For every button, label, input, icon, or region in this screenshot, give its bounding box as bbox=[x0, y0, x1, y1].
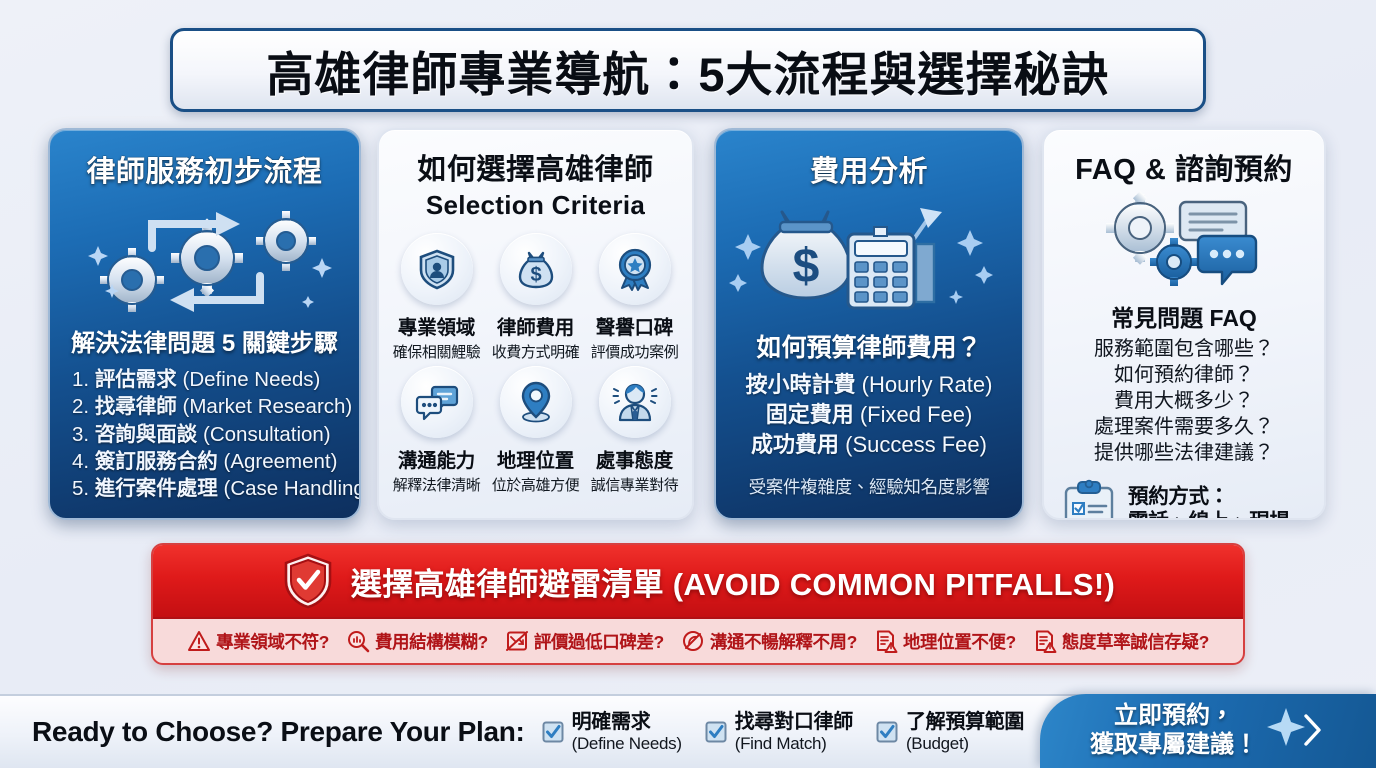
list-item: 處理案件需要多久？ bbox=[1044, 414, 1324, 440]
pitfalls-items-row: 專業領域不符? 費用結構模糊? bbox=[153, 619, 1243, 663]
footer-title: Ready to Choose? Prepare Your Plan: bbox=[32, 716, 525, 748]
card4-title: FAQ & 諮詢預約 bbox=[1044, 146, 1324, 188]
document-alert-icon bbox=[874, 629, 898, 653]
card1-title: 律師服務初步流程 bbox=[50, 148, 359, 190]
pitfall-text: 專業領域不符? bbox=[216, 629, 329, 654]
pitfall-text: 地理位置不便? bbox=[903, 629, 1016, 654]
award-ribbon-icon bbox=[599, 233, 671, 305]
card1-steps-list: 1. 評估需求 (Define Needs) 2. 找尋律師 (Market R… bbox=[72, 366, 359, 502]
cta-line1: 立即預約， bbox=[1090, 702, 1258, 731]
pitfall-item[interactable]: 專業領域不符? bbox=[187, 629, 329, 654]
card2-title: 如何選擇高雄律師 bbox=[379, 146, 692, 188]
criterion-desc: 解釋法律清晰 bbox=[387, 474, 486, 495]
pitfall-text: 評價過低口碑差? bbox=[534, 629, 664, 654]
list-item: 如何預約律師？ bbox=[1044, 362, 1324, 388]
card-selection-criteria[interactable]: 如何選擇高雄律師 Selection Criteria 專業領域 確保相關鯉驗 bbox=[377, 128, 694, 520]
criterion-attitude[interactable]: 處事態度 誠信專業對待 bbox=[585, 366, 684, 495]
clipboard-checklist-icon bbox=[1058, 478, 1120, 520]
card-faq-booking[interactable]: FAQ & 諮詢預約 bbox=[1042, 128, 1326, 520]
list-item: 3. 咨詢與面談 (Consultation) bbox=[72, 421, 359, 448]
criterion-reputation[interactable]: 聲譽口碑 評價成功案例 bbox=[585, 233, 684, 362]
money-bag-calculator-chart-icon: $ bbox=[716, 194, 1022, 322]
footer-check-item[interactable]: 找尋對口律師 (Find Match) bbox=[704, 711, 853, 752]
pitfall-item[interactable]: 費用結構模糊? bbox=[346, 629, 488, 654]
booking-value: 電話、線上、現場 bbox=[1128, 509, 1290, 520]
list-item: 成功費用 (Success Fee) bbox=[716, 430, 1022, 460]
list-item: 1. 評估需求 (Define Needs) bbox=[72, 366, 359, 393]
booking-method[interactable]: 預約方式： 電話、線上、現場 bbox=[1058, 478, 1324, 520]
criteria-grid: 專業領域 確保相關鯉驗 $ 律師費用 收費方式明確 bbox=[379, 233, 692, 495]
footer-check-item[interactable]: 了解預算範圍 (Budget) bbox=[875, 711, 1024, 752]
pitfall-text: 費用結構模糊? bbox=[375, 629, 488, 654]
svg-text:$: $ bbox=[793, 240, 820, 293]
magnifier-chart-icon bbox=[346, 629, 370, 653]
pitfalls-section: 選擇高雄律師避雷清單 (AVOID COMMON PITFALLS!) 專業領域… bbox=[151, 543, 1245, 665]
criterion-desc: 收費方式明確 bbox=[486, 341, 585, 362]
check-label-zh: 了解預算範圍 bbox=[906, 711, 1024, 733]
criterion-label: 專業領域 bbox=[387, 311, 486, 340]
business-person-icon bbox=[599, 366, 671, 438]
booking-label: 預約方式： bbox=[1128, 484, 1290, 509]
pitfall-text: 溝通不暢解釋不周? bbox=[710, 629, 857, 654]
card1-heading: 解決法律問題 5 關鍵步驟 bbox=[50, 323, 359, 358]
chat-bubbles-icon bbox=[401, 366, 473, 438]
cta-line2: 獲取專屬建議！ bbox=[1090, 731, 1258, 760]
checkbox-checked-icon[interactable] bbox=[704, 720, 728, 744]
card-service-process[interactable]: 律師服務初步流程 bbox=[48, 128, 361, 520]
money-bag-icon: $ bbox=[500, 233, 572, 305]
pitfall-item[interactable]: 態度草率誠信存疑? bbox=[1033, 629, 1209, 654]
shield-person-icon bbox=[401, 233, 473, 305]
criterion-communication[interactable]: 溝通能力 解釋法律清晰 bbox=[387, 366, 486, 495]
criterion-desc: 誠信專業對待 bbox=[585, 474, 684, 495]
list-item: 4. 簽訂服務合約 (Agreement) bbox=[72, 448, 359, 475]
checkbox-checked-icon[interactable] bbox=[875, 720, 899, 744]
criterion-expertise[interactable]: 專業領域 確保相關鯉驗 bbox=[387, 233, 486, 362]
list-item: 服務範圍包含哪些？ bbox=[1044, 336, 1324, 362]
card3-title: 費用分析 bbox=[716, 148, 1022, 190]
card3-fee-list: 按小時計費 (Hourly Rate) 固定費用 (Fixed Fee) 成功費… bbox=[716, 370, 1022, 460]
criterion-label: 律師費用 bbox=[486, 311, 585, 340]
list-item: 費用大概多少？ bbox=[1044, 388, 1324, 414]
pitfall-item[interactable]: 評價過低口碑差? bbox=[505, 629, 664, 654]
cta-book-now-button[interactable]: 立即預約， 獲取專屬建議！ bbox=[1040, 694, 1376, 768]
chart-down-icon bbox=[505, 629, 529, 653]
criterion-label: 溝通能力 bbox=[387, 444, 486, 473]
card-fee-analysis[interactable]: 費用分析 $ bbox=[714, 128, 1024, 520]
card3-question: 如何預算律師費用？ bbox=[716, 328, 1022, 364]
page-title: 高雄律師專業導航：5大流程與選擇秘訣 bbox=[266, 36, 1109, 105]
shield-check-icon bbox=[281, 552, 335, 610]
document-alert-icon bbox=[1033, 629, 1057, 653]
pitfalls-banner-text: 選擇高雄律師避雷清單 (AVOID COMMON PITFALLS!) bbox=[351, 559, 1115, 604]
criterion-fees[interactable]: $ 律師費用 收費方式明確 bbox=[486, 233, 585, 362]
criterion-desc: 確保相關鯉驗 bbox=[387, 341, 486, 362]
check-label-en: (Budget) bbox=[906, 734, 1024, 753]
card3-note: 受案件複雜度、經驗知名度影響 bbox=[716, 474, 1022, 499]
check-label-en: (Find Match) bbox=[735, 734, 853, 753]
list-item: 提供哪些法律建議？ bbox=[1044, 440, 1324, 466]
criterion-label: 地理位置 bbox=[486, 444, 585, 473]
page-title-banner: 高雄律師專業導航：5大流程與選擇秘訣 bbox=[170, 28, 1206, 112]
cards-row: 律師服務初步流程 bbox=[0, 128, 1376, 522]
pitfalls-banner[interactable]: 選擇高雄律師避雷清單 (AVOID COMMON PITFALLS!) bbox=[153, 545, 1243, 619]
check-label-zh: 明確需求 bbox=[572, 711, 682, 733]
gears-cycle-icon bbox=[50, 196, 359, 321]
location-pin-icon bbox=[500, 366, 572, 438]
footer-check-item[interactable]: 明確需求 (Define Needs) bbox=[541, 711, 682, 752]
card4-question-list: 服務範圍包含哪些？ 如何預約律師？ 費用大概多少？ 處理案件需要多久？ 提供哪些… bbox=[1044, 336, 1324, 466]
card4-heading: 常見問題 FAQ bbox=[1044, 299, 1324, 333]
card2-subtitle: Selection Criteria bbox=[379, 190, 692, 221]
check-label-en: (Define Needs) bbox=[572, 734, 682, 753]
check-label-zh: 找尋對口律師 bbox=[735, 711, 853, 733]
checkbox-checked-icon[interactable] bbox=[541, 720, 565, 744]
footer-checklist: 明確需求 (Define Needs) 找尋對口律師 (Find Match) bbox=[541, 711, 1025, 752]
svg-text:$: $ bbox=[530, 264, 541, 286]
gears-chat-icon bbox=[1044, 190, 1324, 295]
warning-triangle-icon bbox=[187, 629, 211, 653]
pitfall-item[interactable]: 地理位置不便? bbox=[874, 629, 1016, 654]
broken-chat-icon bbox=[681, 629, 705, 653]
pitfall-item[interactable]: 溝通不暢解釋不周? bbox=[681, 629, 857, 654]
criterion-desc: 評價成功案例 bbox=[585, 341, 684, 362]
criterion-label: 處事態度 bbox=[585, 444, 684, 473]
criterion-desc: 位於高雄方便 bbox=[486, 474, 585, 495]
criterion-location[interactable]: 地理位置 位於高雄方便 bbox=[486, 366, 585, 495]
list-item: 2. 找尋律師 (Market Research) bbox=[72, 393, 359, 420]
criterion-label: 聲譽口碑 bbox=[585, 311, 684, 340]
list-item: 按小時計費 (Hourly Rate) bbox=[716, 370, 1022, 400]
list-item: 固定費用 (Fixed Fee) bbox=[716, 400, 1022, 430]
sparkle-chevron-icon bbox=[1266, 704, 1326, 758]
pitfall-text: 態度草率誠信存疑? bbox=[1062, 629, 1209, 654]
list-item: 5. 進行案件處理 (Case Handling) bbox=[72, 475, 359, 502]
